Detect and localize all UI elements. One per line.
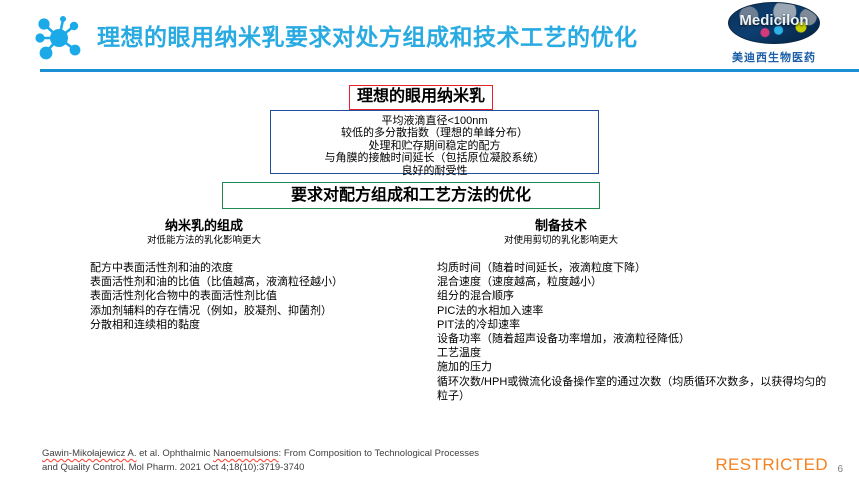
slide: 理想的眼用纳米乳要求对处方组成和技术工艺的优化 Medicilon 美迪西生物医…	[0, 0, 859, 479]
technology-heading: 制备技术	[437, 218, 837, 234]
composition-column: 纳米乳的组成 对低能方法的乳化影响更大 配方中表面活性剂和油的浓度 表面活性剂和…	[90, 218, 430, 332]
criteria-line: 良好的耐受性	[271, 165, 598, 177]
list-item: PIC法的水相加入速率	[437, 304, 837, 318]
list-item: 施加的压力	[437, 360, 837, 374]
header-divider	[40, 69, 859, 72]
citation-part: : From Composition to Technological Proc…	[279, 448, 479, 459]
list-item: 设备功率（随着超声设备功率增加，液滴粒径降低）	[437, 332, 837, 346]
citation-author: Gawin-Mikołajewicz A.	[42, 448, 137, 459]
technology-subheading: 对使用剪切的乳化影响更大	[437, 235, 837, 247]
composition-subheading: 对低能方法的乳化影响更大	[90, 235, 430, 247]
technology-list: 均质时间（随着时间延长，液滴粒度下降） 混合速度（速度越高，粒度越小） 组分的混…	[437, 261, 837, 403]
restricted-label: RESTRICTED	[715, 455, 828, 475]
list-item: 均质时间（随着时间延长，液滴粒度下降）	[437, 261, 837, 275]
molecule-network-icon	[33, 16, 89, 60]
page-title: 理想的眼用纳米乳要求对处方组成和技术工艺的优化	[97, 21, 638, 53]
criteria-line: 平均液滴直径<100nm	[271, 115, 598, 127]
ideal-nanoemulsion-criteria-box: 平均液滴直径<100nm 较低的多分散指数（理想的单峰分布） 处理和贮存期间稳定…	[270, 110, 599, 174]
criteria-line: 处理和贮存期间稳定的配方	[271, 140, 598, 152]
criteria-line: 较低的多分散指数（理想的单峰分布）	[271, 127, 598, 139]
technology-column: 制备技术 对使用剪切的乳化影响更大 均质时间（随着时间延长，液滴粒度下降） 混合…	[437, 218, 837, 403]
composition-list: 配方中表面活性剂和油的浓度 表面活性剂和油的比值（比值越高，液滴粒径越小） 表面…	[90, 261, 430, 332]
ideal-nanoemulsion-title-box: 理想的眼用纳米乳	[349, 85, 493, 110]
list-item: 循环次数/HPH或微流化设备操作室的通过次数（均质循环次数多，以获得均匀的粒子）	[437, 375, 837, 403]
citation-term: Nanoemulsions	[213, 448, 278, 459]
brand-badge-image: Medicilon	[728, 2, 820, 44]
list-item: 分散相和连续相的黏度	[90, 318, 430, 332]
list-item: PIT法的冷却速率	[437, 318, 837, 332]
list-item: 添加剂辅料的存在情况（例如，胶凝剂、抑菌剂）	[90, 304, 430, 318]
brand-name-chinese: 美迪西生物医药	[699, 49, 849, 65]
slide-header: 理想的眼用纳米乳要求对处方组成和技术工艺的优化 Medicilon 美迪西生物医…	[0, 0, 859, 72]
list-item: 组分的混合顺序	[437, 289, 837, 303]
citation: Gawin-Mikołajewicz A. et al. Ophthalmic …	[42, 447, 562, 474]
criteria-line: 与角膜的接触时间延长（包括原位凝胶系统）	[271, 152, 598, 164]
brand-logo: Medicilon 美迪西生物医药	[699, 2, 849, 65]
brand-name: Medicilon	[729, 12, 819, 29]
list-item: 表面活性剂和油的比值（比值越高，液滴粒径越小）	[90, 275, 430, 289]
page-number: 6	[837, 464, 843, 475]
list-item: 表面活性剂化合物中的表面活性剂比值	[90, 289, 430, 303]
composition-heading: 纳米乳的组成	[90, 218, 430, 234]
citation-line-2: and Quality Control. Mol Pharm. 2021 Oct…	[42, 461, 562, 475]
list-item: 配方中表面活性剂和油的浓度	[90, 261, 430, 275]
list-item: 工艺温度	[437, 346, 837, 360]
citation-part: et al. Ophthalmic	[137, 448, 214, 459]
optimization-requirement-box: 要求对配方组成和工艺方法的优化	[222, 182, 600, 209]
list-item: 混合速度（速度越高，粒度越小）	[437, 275, 837, 289]
